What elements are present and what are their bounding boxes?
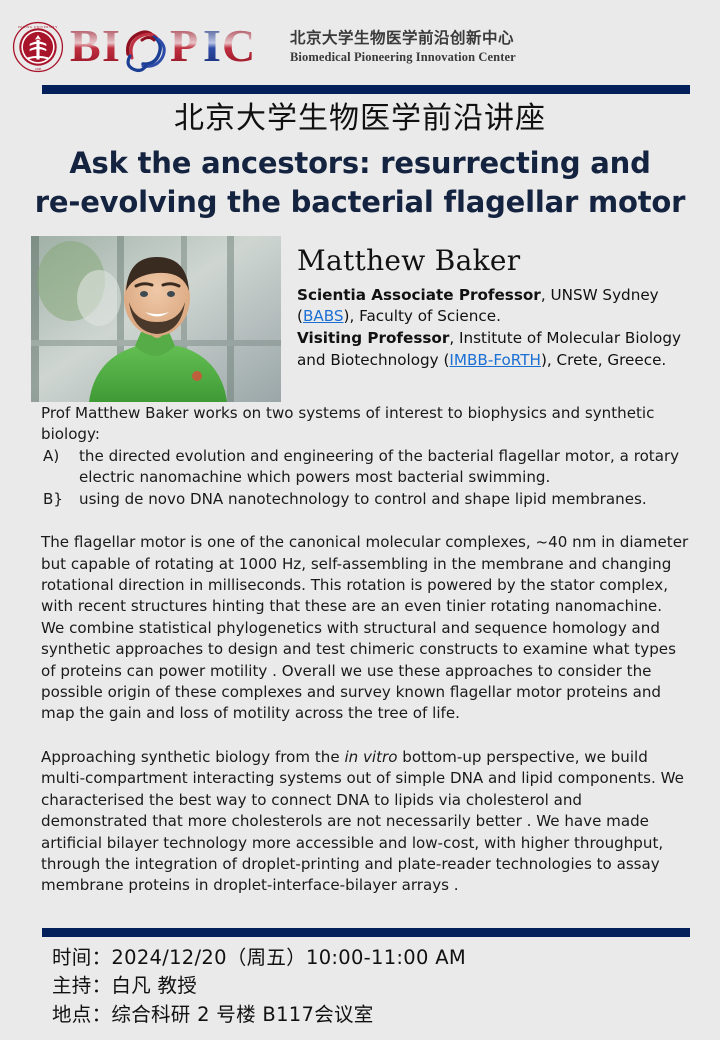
org-name-en: Biomedical Pioneering Innovation Center (290, 51, 516, 65)
talk-title-line2: re-evolving the bacterial flagellar moto… (0, 183, 720, 222)
pku-seal-icon: PEKING UNIVERSITY 1898 (12, 21, 64, 73)
series-title-cn: 北京大学生物医学前沿讲座 (0, 100, 720, 138)
svg-text:I: I (203, 20, 221, 71)
org-name-cn: 北京大学生物医学前沿创新中心 (290, 30, 516, 48)
abstract-body: Prof Matthew Baker works on two systems … (41, 403, 689, 897)
logo-org-text: 北京大学生物医学前沿创新中心 Biomedical Pioneering Inn… (290, 21, 516, 73)
svg-text:I: I (102, 20, 120, 71)
poster-header: PEKING UNIVERSITY 1898 (0, 0, 720, 84)
list-text: using de novo DNA nanotechnology to cont… (79, 489, 689, 510)
svg-text:P: P (170, 20, 198, 71)
talk-title-line1: Ask the ancestors: resurrecting and (0, 144, 720, 183)
biopic-logo: PEKING UNIVERSITY 1898 (12, 20, 516, 74)
biopic-wordmark: B I P I C (70, 20, 280, 74)
abstract-paragraph-3: Approaching synthetic biology from the i… (41, 747, 689, 897)
event-time: 时间：2024/12/20（周五）10:00-11:00 AM (52, 944, 692, 972)
svg-text:B: B (70, 20, 101, 71)
role-secondary: Visiting Professor, Institute of Molecul… (297, 329, 681, 369)
svg-text:1898: 1898 (35, 67, 42, 71)
role-primary: Scientia Associate Professor, UNSW Sydne… (297, 286, 659, 326)
speaker-name: Matthew Baker (297, 246, 689, 277)
event-host: 主持：白凡 教授 (52, 972, 692, 1000)
speaker-photo (31, 236, 281, 402)
list-item: A) the directed evolution and engineerin… (41, 446, 689, 489)
in-vitro-italic: in vitro (344, 748, 397, 766)
list-marker: A) (41, 446, 79, 467)
event-venue: 地点：综合科研 2 号楼 B117会议室 (52, 1001, 692, 1029)
babs-link[interactable]: BABS (303, 307, 344, 325)
speaker-info: Matthew Baker Scientia Associate Profess… (297, 246, 689, 371)
list-text: the directed evolution and engineering o… (79, 446, 689, 489)
abstract-paragraph-2: The flagellar motor is one of the canoni… (41, 532, 689, 725)
svg-text:C: C (222, 20, 255, 71)
list-marker: B} (41, 489, 79, 510)
talk-title: Ask the ancestors: resurrecting and re-e… (0, 144, 720, 222)
divider-top (42, 85, 690, 94)
event-details: 时间：2024/12/20（周五）10:00-11:00 AM 主持：白凡 教授… (52, 944, 692, 1029)
seminar-poster: PEKING UNIVERSITY 1898 (0, 0, 720, 1040)
speaker-affiliation: Scientia Associate Professor, UNSW Sydne… (297, 285, 689, 371)
svg-text:PEKING UNIVERSITY: PEKING UNIVERSITY (18, 25, 58, 29)
divider-bottom (42, 928, 690, 937)
list-item: B} using de novo DNA nanotechnology to c… (41, 489, 689, 510)
imbb-forth-link[interactable]: IMBB-FoRTH (449, 351, 541, 369)
intro-paragraph: Prof Matthew Baker works on two systems … (41, 403, 689, 446)
